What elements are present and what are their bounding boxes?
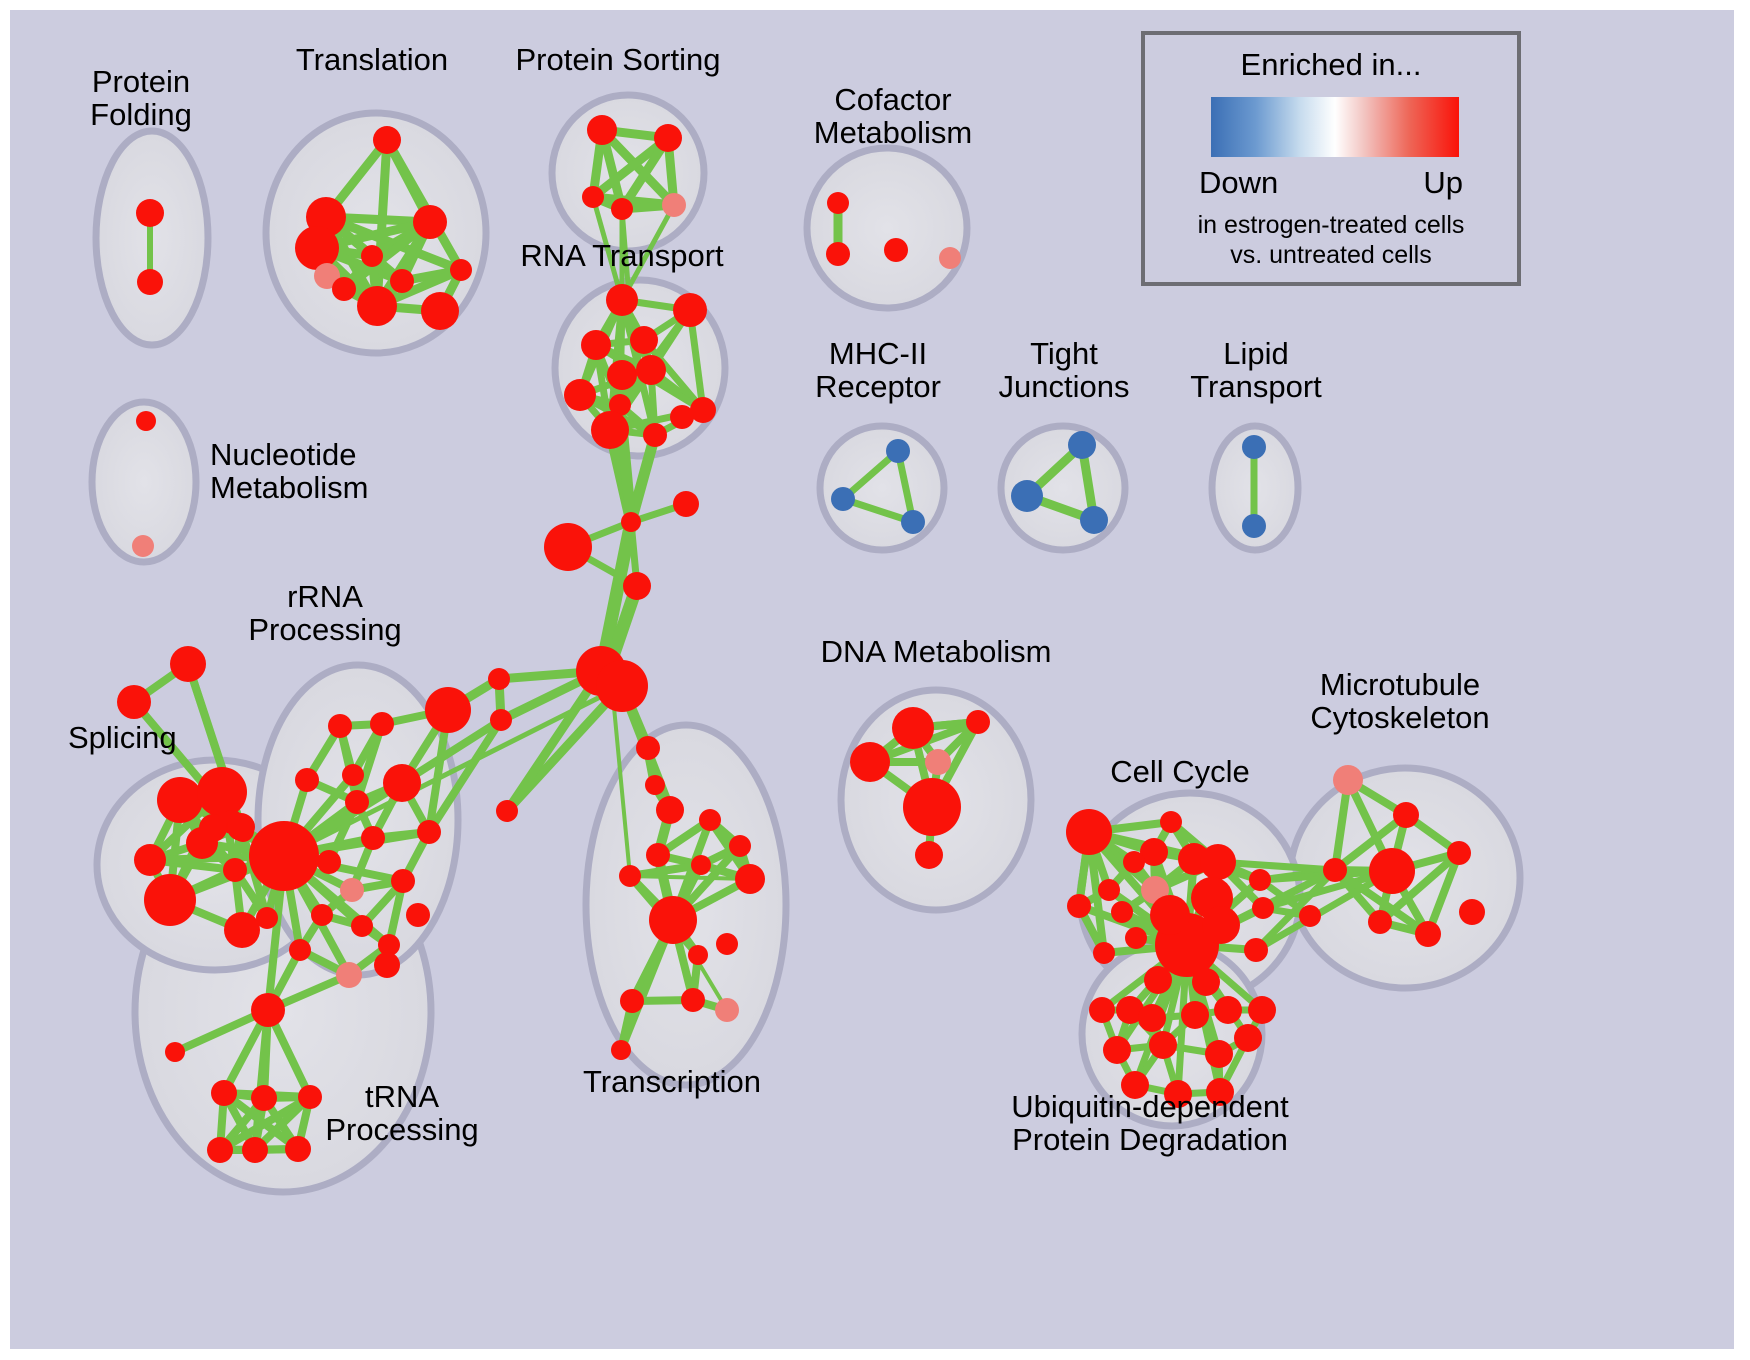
node: [1249, 869, 1271, 891]
node: [1248, 996, 1276, 1024]
node: [256, 907, 278, 929]
node: [1200, 844, 1236, 880]
node: [915, 841, 943, 869]
node: [596, 660, 648, 712]
legend-color-bar: [1211, 97, 1459, 157]
cluster-label-splicing: Splicing: [68, 721, 177, 754]
node: [654, 124, 682, 152]
cluster-label-cofactor-metabolism: Cofactor Metabolism: [814, 83, 973, 150]
cluster-label-transcription: Transcription: [583, 1065, 761, 1098]
node: [620, 989, 644, 1013]
node: [249, 821, 319, 891]
node: [317, 850, 341, 874]
node: [1093, 942, 1115, 964]
node: [157, 777, 203, 823]
node: [361, 245, 383, 267]
node: [892, 707, 934, 749]
cluster-label-mhc-ii-receptor: MHC-II Receptor: [815, 337, 941, 404]
node: [688, 945, 708, 965]
node: [1244, 938, 1268, 962]
node: [1393, 802, 1419, 828]
node: [886, 439, 910, 463]
node: [490, 709, 512, 731]
node: [564, 379, 596, 411]
node: [699, 809, 721, 831]
node: [1181, 1001, 1209, 1029]
cluster-label-rna-transport: RNA Transport: [520, 239, 723, 272]
node: [224, 912, 260, 948]
node: [1144, 966, 1172, 994]
node: [1149, 1031, 1177, 1059]
node: [673, 293, 707, 327]
node: [939, 247, 961, 269]
node: [673, 491, 699, 517]
node: [373, 126, 401, 154]
node: [1333, 765, 1363, 795]
node: [144, 874, 196, 926]
node: [656, 796, 684, 824]
node: [223, 858, 247, 882]
node: [1242, 514, 1266, 538]
network-canvas: Protein Folding Translation Protein Sort…: [10, 10, 1734, 1349]
node: [1068, 431, 1096, 459]
node: [417, 820, 441, 844]
node: [826, 242, 850, 266]
node: [1066, 809, 1112, 855]
legend-box: Enriched in... Down Up in estrogen-treat…: [1141, 31, 1521, 286]
node: [607, 360, 637, 390]
node: [1103, 1036, 1131, 1064]
node: [1011, 480, 1043, 512]
node: [1368, 910, 1392, 934]
node: [591, 411, 629, 449]
node: [645, 775, 665, 795]
cluster-label-nucleotide-metabolism: Nucleotide Metabolism: [210, 438, 369, 505]
node: [1150, 895, 1190, 935]
node: [357, 286, 397, 326]
node: [1299, 905, 1321, 927]
node: [374, 952, 400, 978]
legend-title: Enriched in...: [1145, 47, 1517, 83]
node: [450, 259, 472, 281]
node: [289, 939, 311, 961]
node: [715, 998, 739, 1022]
node: [581, 330, 611, 360]
node: [630, 326, 658, 354]
node: [649, 896, 697, 944]
node: [582, 186, 604, 208]
node: [587, 115, 617, 145]
node: [170, 646, 206, 682]
node: [1111, 901, 1133, 923]
cluster-label-rrna-processing: rRNA Processing: [248, 580, 401, 647]
node: [332, 277, 356, 301]
node: [903, 778, 961, 836]
node: [1067, 894, 1091, 918]
cluster-label-protein-folding: Protein Folding: [90, 65, 192, 132]
node: [1214, 996, 1242, 1024]
node: [827, 192, 849, 214]
node: [251, 1085, 277, 1111]
node: [336, 962, 362, 988]
cluster-ellipse-cofactor-metabolism: [807, 148, 967, 308]
node: [1089, 997, 1115, 1023]
node: [1080, 506, 1108, 534]
cluster-label-cell-cycle: Cell Cycle: [1110, 755, 1250, 788]
node: [488, 668, 510, 690]
node: [117, 685, 151, 719]
node: [383, 764, 421, 802]
node: [619, 865, 641, 887]
node: [242, 1137, 268, 1163]
node: [345, 790, 369, 814]
node: [1415, 921, 1441, 947]
figure-root: Protein Folding Translation Protein Sort…: [0, 0, 1750, 1360]
node: [729, 835, 751, 857]
node: [646, 843, 670, 867]
legend-down-label: Down: [1199, 165, 1278, 201]
node: [691, 855, 711, 875]
node: [136, 199, 164, 227]
node: [901, 510, 925, 534]
node: [199, 814, 227, 842]
node: [831, 487, 855, 511]
cluster-label-translation: Translation: [296, 43, 448, 76]
node: [643, 423, 667, 447]
node: [884, 238, 908, 262]
node: [611, 1040, 631, 1060]
node: [211, 1080, 237, 1106]
node: [1098, 879, 1120, 901]
cluster-label-lipid-transport: Lipid Transport: [1190, 337, 1322, 404]
node: [413, 205, 447, 239]
cluster-label-tight-junctions: Tight Junctions: [999, 337, 1130, 404]
node: [390, 269, 414, 293]
node: [623, 572, 651, 600]
node: [1202, 906, 1240, 944]
node: [1125, 927, 1147, 949]
node: [340, 878, 364, 902]
node: [670, 405, 694, 429]
legend-sublabel: in estrogen-treated cells vs. untreated …: [1145, 211, 1517, 270]
node: [227, 813, 255, 841]
node: [681, 988, 705, 1012]
node: [611, 198, 633, 220]
node: [1205, 1040, 1233, 1068]
node: [285, 1136, 311, 1162]
node: [351, 915, 373, 937]
node: [328, 714, 352, 738]
node: [636, 736, 660, 760]
node: [966, 710, 990, 734]
node: [925, 749, 951, 775]
node: [1242, 435, 1266, 459]
legend-up-label: Up: [1423, 165, 1463, 201]
node: [251, 993, 285, 1027]
node: [544, 523, 592, 571]
node: [1459, 899, 1485, 925]
node: [850, 742, 890, 782]
node: [1447, 841, 1471, 865]
node: [636, 355, 666, 385]
node: [1234, 1024, 1262, 1052]
node: [1138, 1004, 1166, 1032]
cluster-label-microtubule-cytoskeleton: Microtubule Cytoskeleton: [1310, 668, 1489, 735]
node: [1160, 811, 1182, 833]
node: [690, 397, 716, 423]
node: [425, 687, 471, 733]
cluster-label-dna-metabolism: DNA Metabolism: [821, 635, 1052, 668]
node: [662, 193, 686, 217]
cluster-label-ubiquitin-protein-degradation: Ubiquitin-dependent Protein Degradation: [1011, 1090, 1289, 1157]
node: [1123, 851, 1145, 873]
node: [137, 269, 163, 295]
node: [197, 767, 247, 817]
node: [295, 768, 319, 792]
node: [391, 869, 415, 893]
node: [735, 864, 765, 894]
node: [361, 826, 385, 850]
node: [716, 933, 738, 955]
cluster-label-protein-sorting: Protein Sorting: [515, 43, 720, 76]
node: [295, 226, 339, 270]
node: [1192, 968, 1220, 996]
node: [621, 512, 641, 532]
node: [421, 292, 459, 330]
node: [406, 903, 430, 927]
node: [132, 535, 154, 557]
node: [496, 800, 518, 822]
node: [311, 904, 333, 926]
node: [136, 411, 156, 431]
node: [370, 712, 394, 736]
node: [207, 1137, 233, 1163]
cluster-label-trna-processing: tRNA Processing: [325, 1080, 478, 1147]
node: [1369, 848, 1415, 894]
node: [606, 284, 638, 316]
node: [1252, 897, 1274, 919]
node: [1323, 858, 1347, 882]
node: [134, 844, 166, 876]
node: [342, 764, 364, 786]
node: [298, 1085, 322, 1109]
node: [165, 1042, 185, 1062]
